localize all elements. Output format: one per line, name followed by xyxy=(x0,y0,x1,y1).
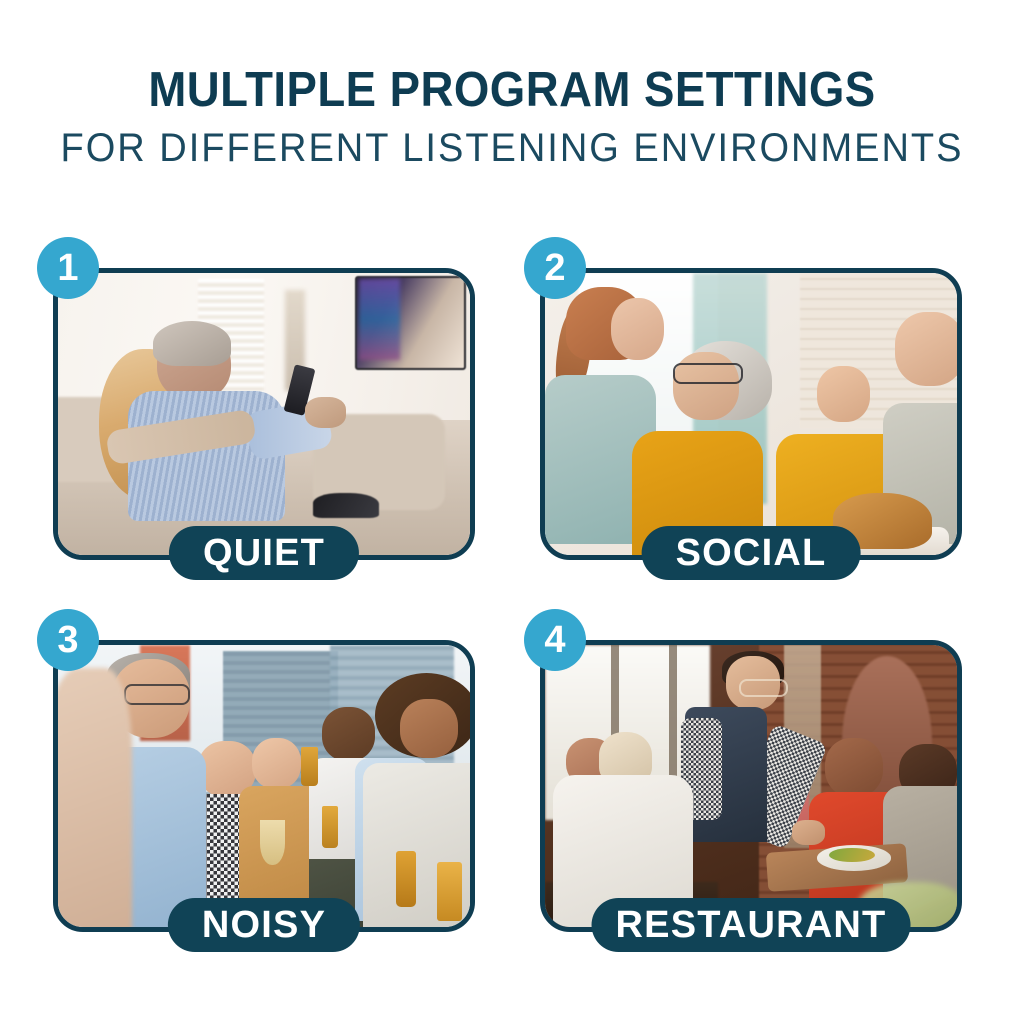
program-card-restaurant[interactable]: 4 RESTAURANT xyxy=(540,640,962,932)
card-photo-restaurant xyxy=(545,645,957,927)
card-number-badge-1: 1 xyxy=(37,237,99,299)
card-photo-quiet xyxy=(58,273,470,555)
card-label-noisy: NOISY xyxy=(168,898,360,952)
card-number-badge-4: 4 xyxy=(524,609,586,671)
card-number-badge-2: 2 xyxy=(524,237,586,299)
program-settings-grid: 1 QUIET xyxy=(0,0,1024,1024)
infographic-poster: MULTIPLE PROGRAM SETTINGS FOR DIFFERENT … xyxy=(0,0,1024,1024)
program-card-noisy[interactable]: 3 NOISY xyxy=(53,640,475,932)
card-photo-noisy xyxy=(58,645,470,927)
card-photo-social xyxy=(545,273,957,555)
card-label-quiet: QUIET xyxy=(169,526,359,580)
program-card-quiet[interactable]: 1 QUIET xyxy=(53,268,475,560)
card-label-restaurant: RESTAURANT xyxy=(592,898,911,952)
card-label-social: SOCIAL xyxy=(642,526,861,580)
card-number-badge-3: 3 xyxy=(37,609,99,671)
program-card-social[interactable]: 2 SOCIAL xyxy=(540,268,962,560)
